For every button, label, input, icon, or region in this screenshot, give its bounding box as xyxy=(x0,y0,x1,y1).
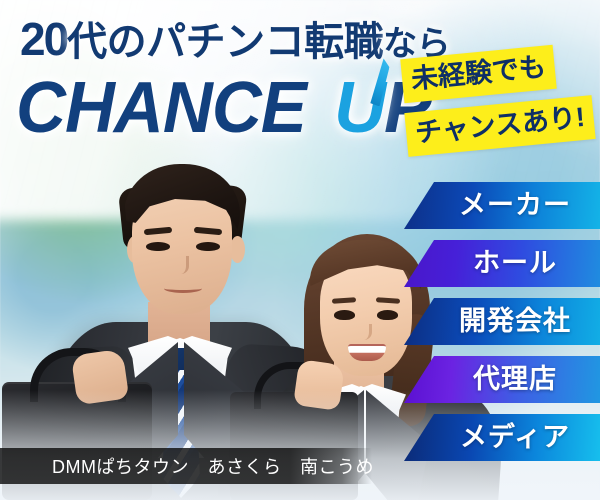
category-bar-agency[interactable]: 代理店 xyxy=(404,356,600,403)
category-bar-hall[interactable]: ホール xyxy=(404,240,600,287)
woman-eye-right xyxy=(377,310,398,320)
highlight-badges: 未経験でも チャンスあり! xyxy=(402,52,600,148)
caption-text: DMMぱちタウン あさくら 南こうめ xyxy=(0,453,374,479)
chance-up-wordmark: CHANCE U P xyxy=(16,72,431,144)
badge-chance-available: チャンスあり! xyxy=(404,95,596,157)
category-label-development-company: 開発会社 xyxy=(459,308,571,335)
category-label-agency: 代理店 xyxy=(473,366,557,393)
man-eye-right xyxy=(196,242,220,251)
headline-line-1-middle: 代のパチンコ転職 xyxy=(67,20,383,64)
category-label-hall: ホール xyxy=(473,250,557,277)
wordmark-u-letter: U xyxy=(334,72,384,144)
wordmark-chance-text: CHANCE xyxy=(16,72,306,144)
category-bar-development-company[interactable]: 開発会社 xyxy=(404,298,600,345)
caption-bar: DMMぱちタウン あさくら 南こうめ xyxy=(0,448,372,484)
category-list: メーカー ホール 開発会社 代理店 メディア xyxy=(404,182,600,472)
category-bar-media[interactable]: メディア xyxy=(404,414,600,461)
ad-banner[interactable]: 20代のパチンコ転職なら CHANCE U P 未経験でも チャンスあり! メー… xyxy=(0,0,600,500)
woman-eye-left xyxy=(334,310,355,320)
headline: 20代のパチンコ転職なら xyxy=(20,16,450,62)
man-mouth xyxy=(164,284,202,293)
category-label-maker: メーカー xyxy=(459,192,571,219)
badge-no-experience: 未経験でも xyxy=(400,45,557,103)
category-bar-maker[interactable]: メーカー xyxy=(404,182,600,229)
headline-line-1: 20代のパチンコ転職なら xyxy=(20,16,450,62)
man-eye-left xyxy=(146,242,170,251)
category-label-media: メディア xyxy=(460,424,570,451)
man-ear-right xyxy=(230,236,245,263)
headline-age-number: 20 xyxy=(20,13,67,65)
